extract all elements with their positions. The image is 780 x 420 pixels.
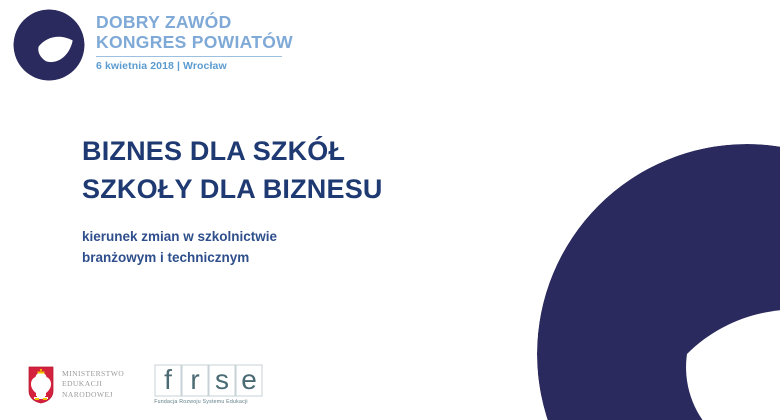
slide-canvas: DOBRY ZAWÓD KONGRES POWIATÓW 6 kwietnia … — [0, 0, 780, 420]
footer-logo-row: MINISTERSTWO EDUKACJI NARODOWEJ f r s e — [28, 364, 266, 405]
subtitle-block: kierunek zmian w szkolnictwie branżowym … — [82, 226, 277, 268]
frse-letter-f: f — [164, 364, 172, 395]
header-divider-rule — [96, 56, 282, 57]
headline-block: BIZNES DLA SZKÓŁ SZKOŁY DLA BIZNESU — [82, 132, 383, 208]
subtitle-line-1: kierunek zmian w szkolnictwie — [82, 226, 277, 247]
header-text-block: DOBRY ZAWÓD KONGRES POWIATÓW 6 kwietnia … — [96, 8, 293, 72]
ministry-line-3: NARODOWEJ — [62, 390, 124, 401]
subtitle-line-2: branżowym i technicznym — [82, 247, 277, 268]
headline-line-2: SZKOŁY DLA BIZNESU — [82, 170, 383, 208]
frse-letter-r: r — [191, 364, 200, 395]
ministry-wordmark-text: MINISTERSTWO EDUKACJI NARODOWEJ — [62, 369, 124, 401]
header-title-line1: DOBRY ZAWÓD — [96, 12, 293, 32]
polish-eagle-emblem — [28, 366, 54, 404]
frse-letter-e: e — [241, 364, 257, 395]
headline-line-1: BIZNES DLA SZKÓŁ — [82, 132, 383, 170]
frse-logo: f r s e Fundacja Rozwoju Systemu Edukacj… — [154, 364, 266, 405]
congress-circle-logo — [12, 8, 86, 82]
header-title-line2: KONGRES POWIATÓW — [96, 32, 293, 52]
ministry-of-education-logo: MINISTERSTWO EDUKACJI NARODOWEJ — [28, 366, 124, 404]
frse-wordmark: f r s e — [154, 364, 266, 397]
header-lockup: DOBRY ZAWÓD KONGRES POWIATÓW 6 kwietnia … — [12, 8, 293, 82]
ministry-line-1: MINISTERSTWO — [62, 369, 124, 380]
frse-letter-s: s — [215, 364, 229, 395]
congress-circle-logo-large — [537, 144, 780, 420]
header-date-line: 6 kwietnia 2018 | Wrocław — [96, 60, 293, 72]
ministry-line-2: EDUKACJI — [62, 379, 124, 390]
frse-tagline: Fundacja Rozwoju Systemu Edukacji — [154, 399, 248, 405]
